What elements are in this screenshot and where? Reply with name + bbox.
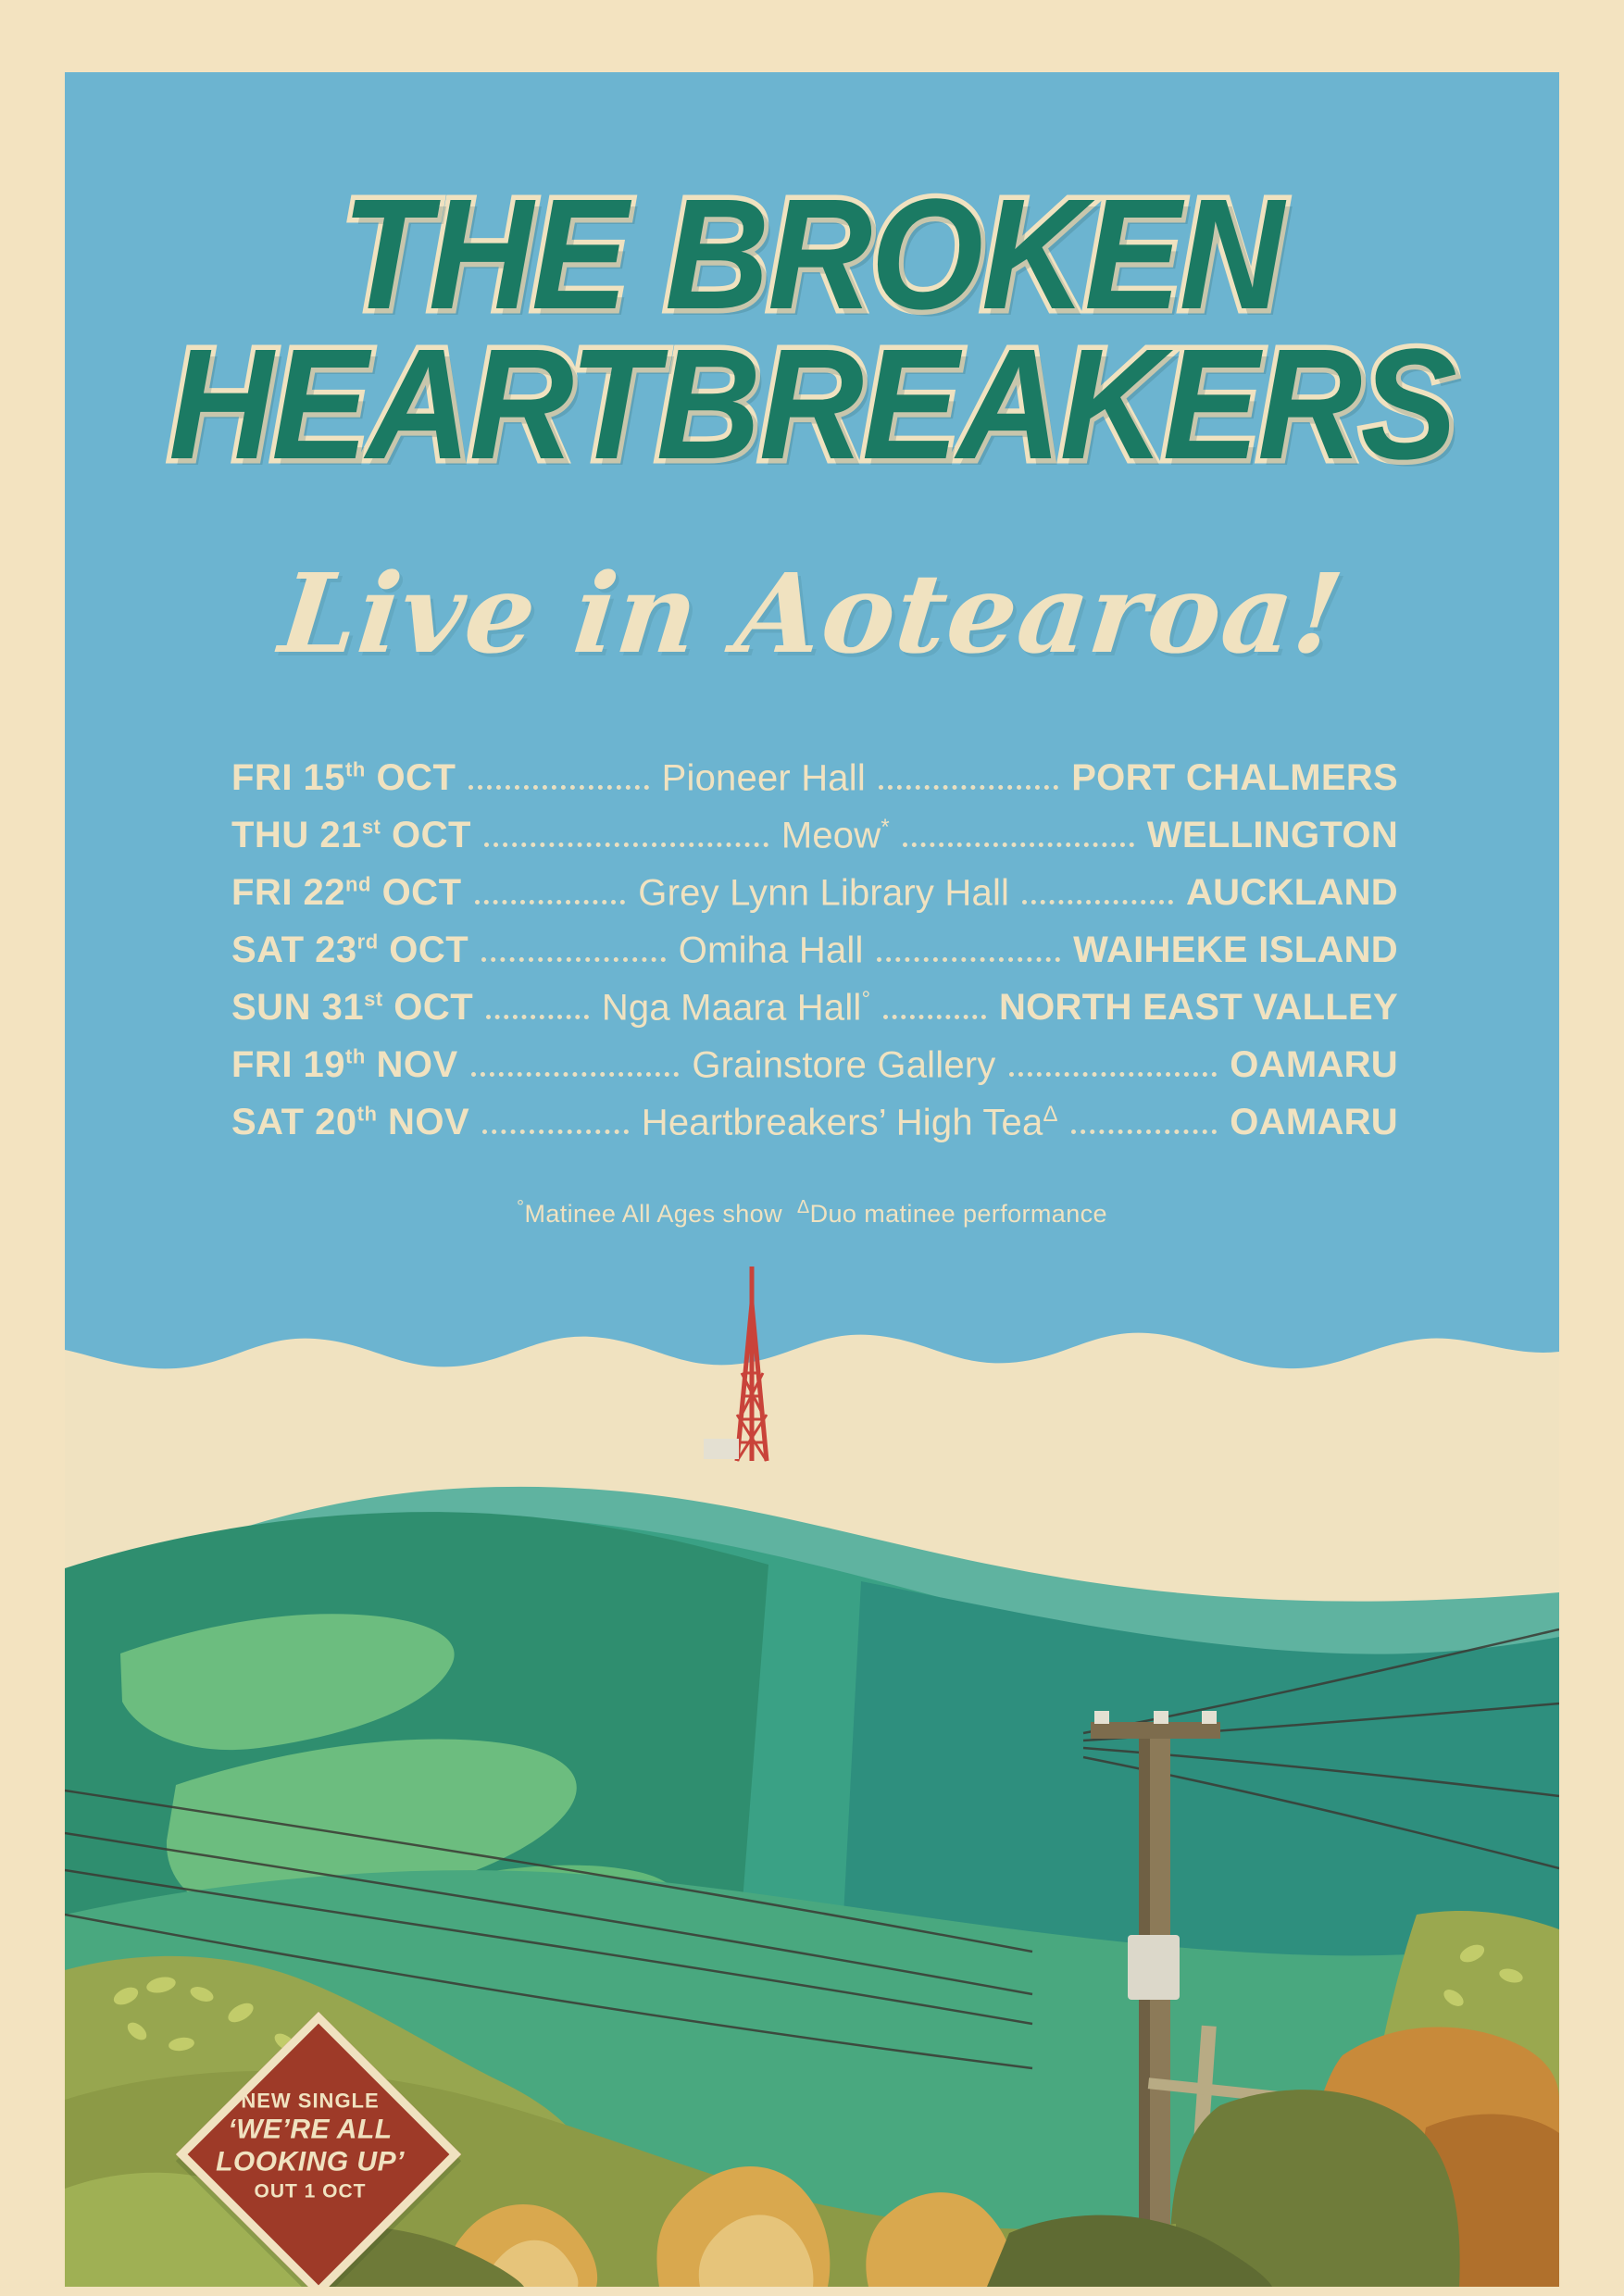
- leader-dots: [484, 842, 768, 847]
- date-city: OAMARU: [1230, 1044, 1398, 1086]
- leader-dots: [1009, 1072, 1218, 1077]
- date-when: FRI 15th OCT: [231, 757, 456, 799]
- date-venue: Grainstore Gallery: [692, 1044, 995, 1086]
- leader-dots: [879, 785, 1058, 790]
- tour-date-row: SAT 20th NOV Heartbreakers’ High TeaΔ OA…: [231, 1102, 1398, 1159]
- date-city: NORTH EAST VALLEY: [999, 987, 1398, 1029]
- tour-date-row: FRI 22nd OCT Grey Lynn Library Hall AUCK…: [231, 872, 1398, 930]
- date-when: FRI 22nd OCT: [231, 872, 462, 914]
- leader-dots: [482, 1129, 629, 1134]
- poster-subtitle: Live in Aotearoa!: [65, 549, 1559, 678]
- date-when: SUN 31st OCT: [231, 987, 473, 1029]
- date-when: SAT 20th NOV: [231, 1102, 469, 1143]
- leader-dots: [877, 957, 1061, 962]
- new-single-badge[interactable]: NEW SINGLE ‘WE’RE ALL LOOKING UP’ OUT 1 …: [167, 2003, 454, 2287]
- tower-shed: [704, 1439, 739, 1459]
- date-when: FRI 19th NOV: [231, 1044, 458, 1086]
- tour-date-row: SAT 23rd OCT Omiha Hall WAIHEKE ISLAND: [231, 930, 1398, 987]
- date-venue: Nga Maara Hall°: [602, 987, 871, 1029]
- leader-dots: [468, 785, 648, 790]
- band-name-line-2: HEARTBREAKERS: [125, 331, 1500, 478]
- date-city: OAMARU: [1230, 1102, 1398, 1143]
- leader-dots: [1071, 1129, 1218, 1134]
- leader-dots: [471, 1072, 680, 1077]
- date-venue: Heartbreakers’ High TeaΔ: [642, 1102, 1058, 1143]
- leader-dots: [475, 900, 626, 905]
- date-when: SAT 23rd OCT: [231, 930, 468, 971]
- footnote-mark-delta: Δ: [797, 1197, 810, 1217]
- tour-date-row: FRI 15th OCT Pioneer Hall PORT CHALMERS: [231, 757, 1398, 815]
- tour-date-row: FRI 19th NOV Grainstore Gallery OAMARU: [231, 1044, 1398, 1102]
- footnote-line: °Matinee All Ages show ΔDuo matinee perf…: [65, 1197, 1559, 1229]
- band-name-line-1: THE BROKEN: [125, 181, 1500, 328]
- tour-date-row: THU 21st OCT Meow* WELLINGTON: [231, 815, 1398, 872]
- date-venue: Grey Lynn Library Hall: [638, 872, 1009, 914]
- badge-diamond-shape: [176, 2012, 461, 2287]
- tour-date-row: SUN 31st OCT Nga Maara Hall° NORTH EAST …: [231, 987, 1398, 1044]
- footnote-text-2: Duo matinee performance: [810, 1200, 1107, 1228]
- date-venue: Omiha Hall: [679, 930, 864, 971]
- date-city: PORT CHALMERS: [1071, 757, 1398, 799]
- leader-dots: [486, 1015, 589, 1019]
- leader-dots: [1022, 900, 1173, 905]
- poster-canvas: THE BROKEN HEARTBREAKERS Live in Aotearo…: [65, 72, 1559, 2287]
- leader-dots: [903, 842, 1134, 847]
- leader-dots: [481, 957, 666, 962]
- date-city: AUCKLAND: [1186, 872, 1398, 914]
- poster-title: THE BROKEN HEARTBREAKERS: [65, 181, 1559, 478]
- footnote-text-1: Matinee All Ages show: [524, 1200, 782, 1228]
- date-venue: Pioneer Hall: [662, 757, 866, 799]
- date-city: WELLINGTON: [1147, 815, 1398, 856]
- date-venue: Meow*: [781, 815, 890, 856]
- tour-date-list: FRI 15th OCT Pioneer Hall PORT CHALMERS …: [231, 757, 1398, 1159]
- leader-dots: [883, 1015, 986, 1019]
- date-city: WAIHEKE ISLAND: [1073, 930, 1398, 971]
- date-when: THU 21st OCT: [231, 815, 471, 856]
